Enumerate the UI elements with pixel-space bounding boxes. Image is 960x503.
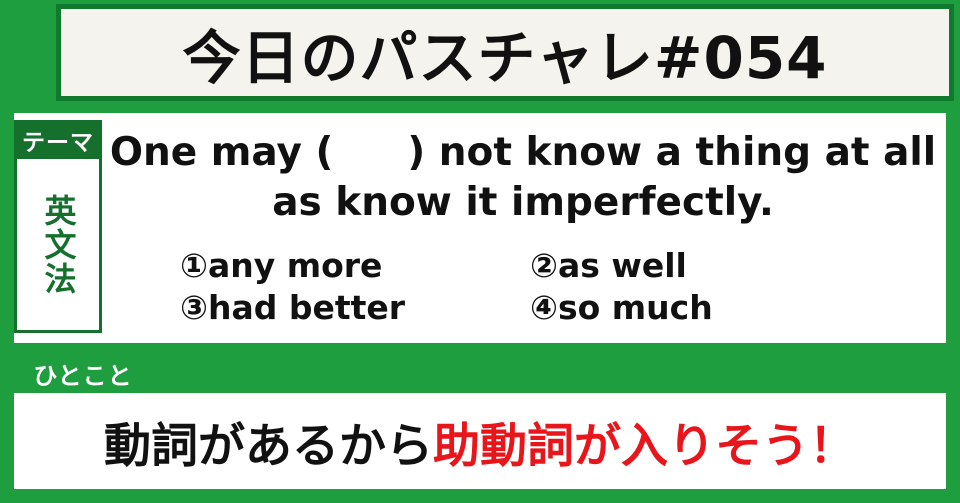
comment-tab-label: ひとこと	[33, 356, 132, 391]
choice-marker-3: ③	[180, 288, 208, 327]
choice-marker-1: ①	[180, 246, 208, 285]
choice-marker-4: ④	[530, 288, 558, 327]
question-line2: as know it imperfectly.	[272, 180, 774, 225]
theme-tab-label: テーマ	[22, 123, 94, 157]
comment-text: 動詞があるから助動詞が入りそう！	[104, 407, 856, 476]
choice-item-2[interactable]: ②as well	[530, 246, 880, 286]
comment-tab: ひとこと	[14, 353, 152, 393]
theme-box: 英文法	[14, 159, 102, 333]
comment-text-highlight: 助動詞が入りそう！	[433, 419, 856, 474]
choice-item-1[interactable]: ①any more	[180, 246, 530, 286]
left-green-spine	[0, 0, 56, 108]
title-band: 今日のパスチャレ#054	[56, 4, 954, 101]
choice-text-2: as well	[558, 246, 687, 285]
choice-item-3[interactable]: ③had better	[180, 288, 530, 328]
choice-text-4: so much	[558, 288, 713, 327]
comment-card: 動詞があるから助動詞が入りそう！	[14, 393, 946, 489]
choice-item-4[interactable]: ④so much	[530, 288, 880, 328]
comment-text-normal: 動詞があるから	[104, 419, 433, 474]
choice-list: ①any more ②as well ③had better ④so much	[180, 246, 880, 327]
choice-marker-2: ②	[530, 246, 558, 285]
question-line1-after: ) not know a thing at all	[407, 130, 936, 175]
page-title: 今日のパスチャレ#054	[182, 11, 827, 95]
choice-text-1: any more	[208, 246, 382, 285]
theme-tab: テーマ	[14, 120, 102, 159]
question-line1-before: One may (	[110, 130, 334, 175]
question-sentence: One may () not know a thing at all as kn…	[108, 128, 938, 228]
choice-text-3: had better	[208, 288, 405, 327]
slide-root: 今日のパスチャレ#054 テーマ 英文法 One may () not know…	[0, 0, 960, 503]
theme-vertical-label: 英文法	[38, 194, 77, 296]
